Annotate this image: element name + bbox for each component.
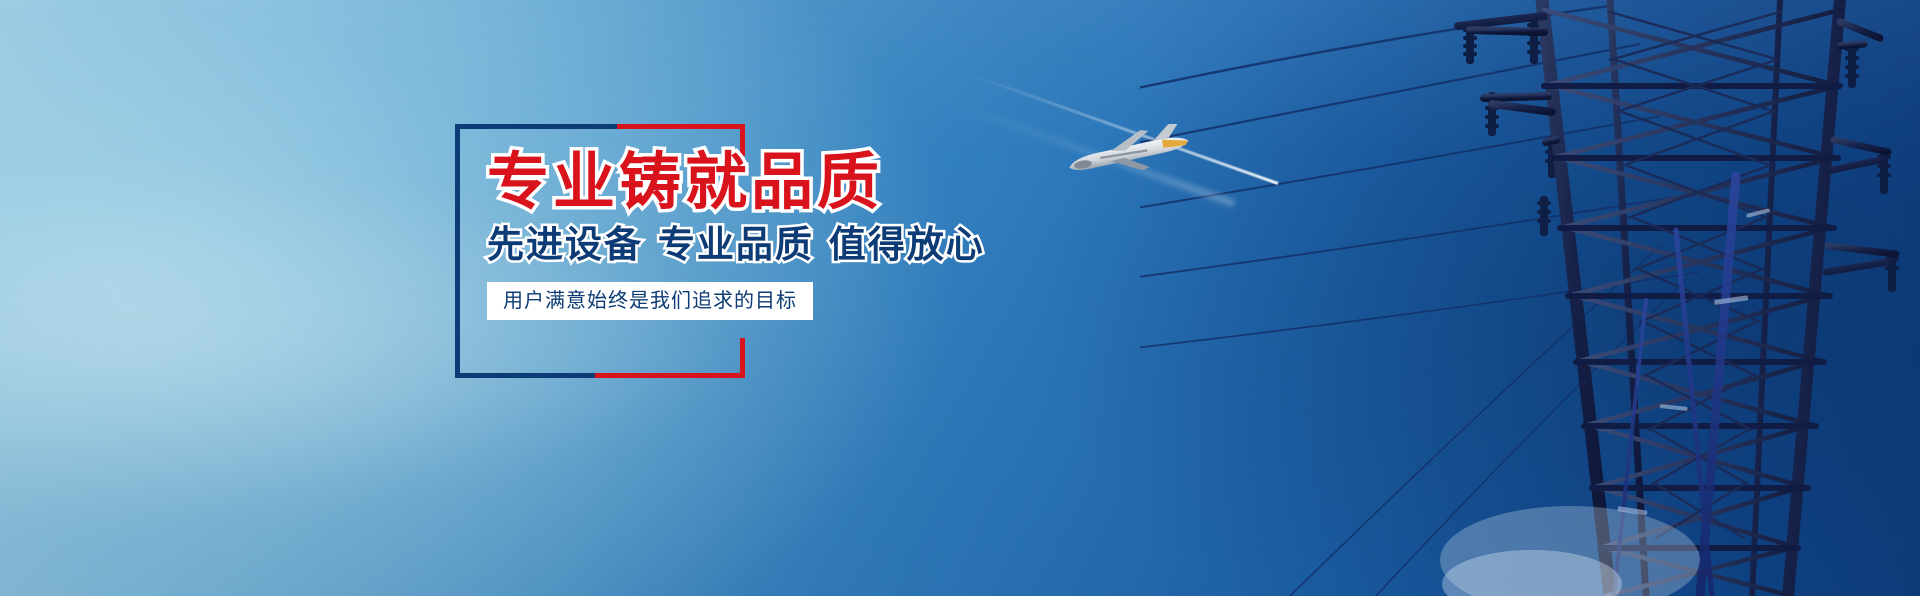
- transmission-tower-photo: [1140, 0, 1920, 596]
- frame-left-border: [455, 124, 460, 378]
- frame-top-red-segment: [617, 124, 745, 129]
- banner-headline: 专业铸就品质: [487, 150, 1027, 213]
- frame-right-bottom-red-segment: [740, 338, 745, 378]
- banner-copy: 专业铸就品质 先进设备 专业品质 值得放心 用户满意始终是我们追求的目标: [487, 150, 1027, 320]
- frame-bottom-navy-segment: [455, 373, 595, 378]
- promo-banner: 专业铸就品质 先进设备 专业品质 值得放心 用户满意始终是我们追求的目标: [0, 0, 1920, 596]
- banner-subline: 先进设备 专业品质 值得放心: [487, 225, 1027, 266]
- frame-top-navy-segment: [455, 124, 617, 129]
- tagline-box: 用户满意始终是我们追求的目标: [487, 282, 813, 320]
- tagline-text: 用户满意始终是我们追求的目标: [503, 289, 797, 312]
- frame-bottom-red-segment: [595, 373, 745, 378]
